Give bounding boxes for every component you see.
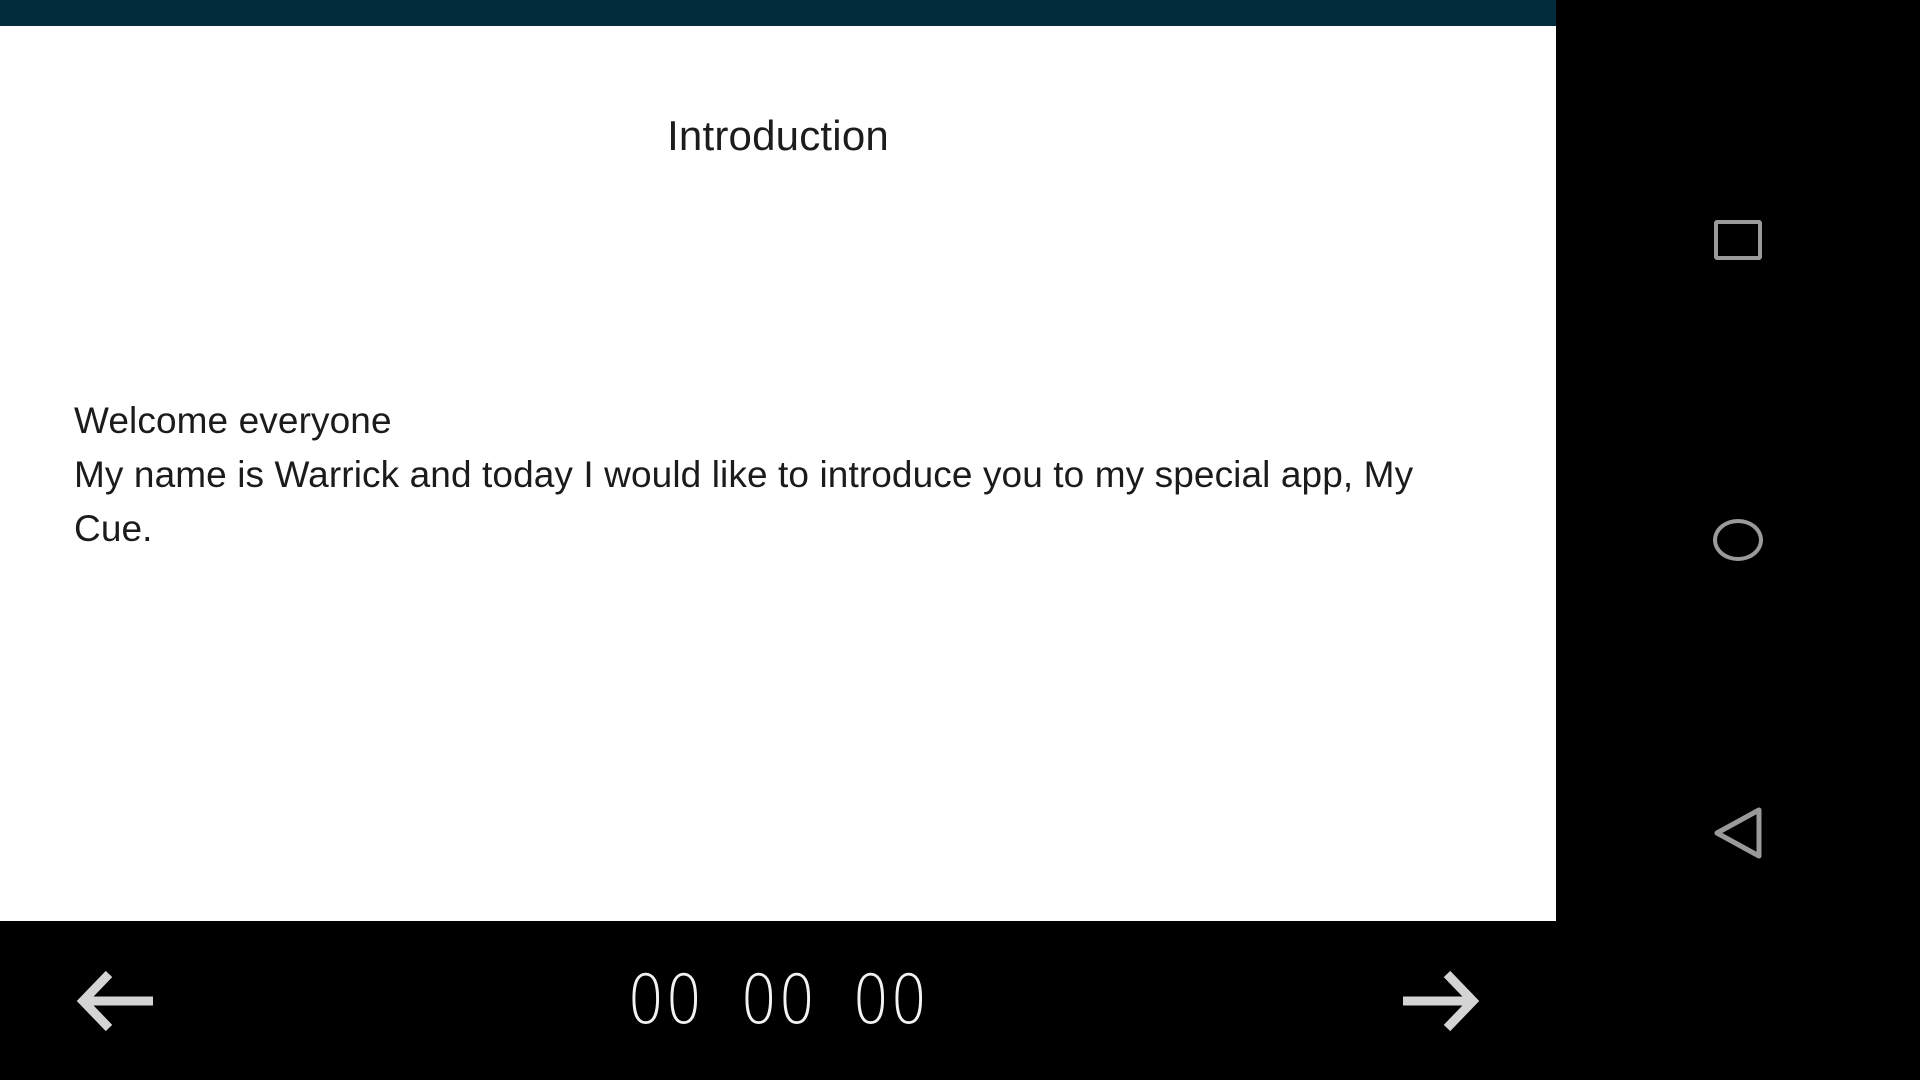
app-window: Introduction Welcome everyone My name is… [0,0,1556,1080]
android-navigation-bar [1556,0,1920,1080]
timer-seconds: 00 [852,967,928,1035]
circle-icon [1713,519,1763,561]
playback-toolbar: 00 00 00 [0,921,1556,1080]
slide-title: Introduction [0,110,1556,162]
timer-minutes: 00 [740,967,816,1035]
status-bar [0,0,1556,26]
nav-home-button[interactable] [1556,465,1920,615]
square-icon [1714,220,1762,260]
slide-body-text: Welcome everyone My name is Warrick and … [74,394,1494,556]
previous-slide-button[interactable] [10,921,220,1080]
arrow-left-icon [75,970,155,1032]
device-screen: Introduction Welcome everyone My name is… [0,0,1920,1080]
slide-canvas[interactable]: Introduction Welcome everyone My name is… [0,26,1556,921]
nav-back-button[interactable] [1556,760,1920,910]
arrow-right-icon [1401,970,1481,1032]
next-slide-button[interactable] [1336,921,1546,1080]
triangle-left-icon [1711,805,1765,866]
timer-hours: 00 [627,967,703,1035]
elapsed-timer: 00 00 00 [0,921,1556,1080]
nav-recents-button[interactable] [1556,165,1920,315]
